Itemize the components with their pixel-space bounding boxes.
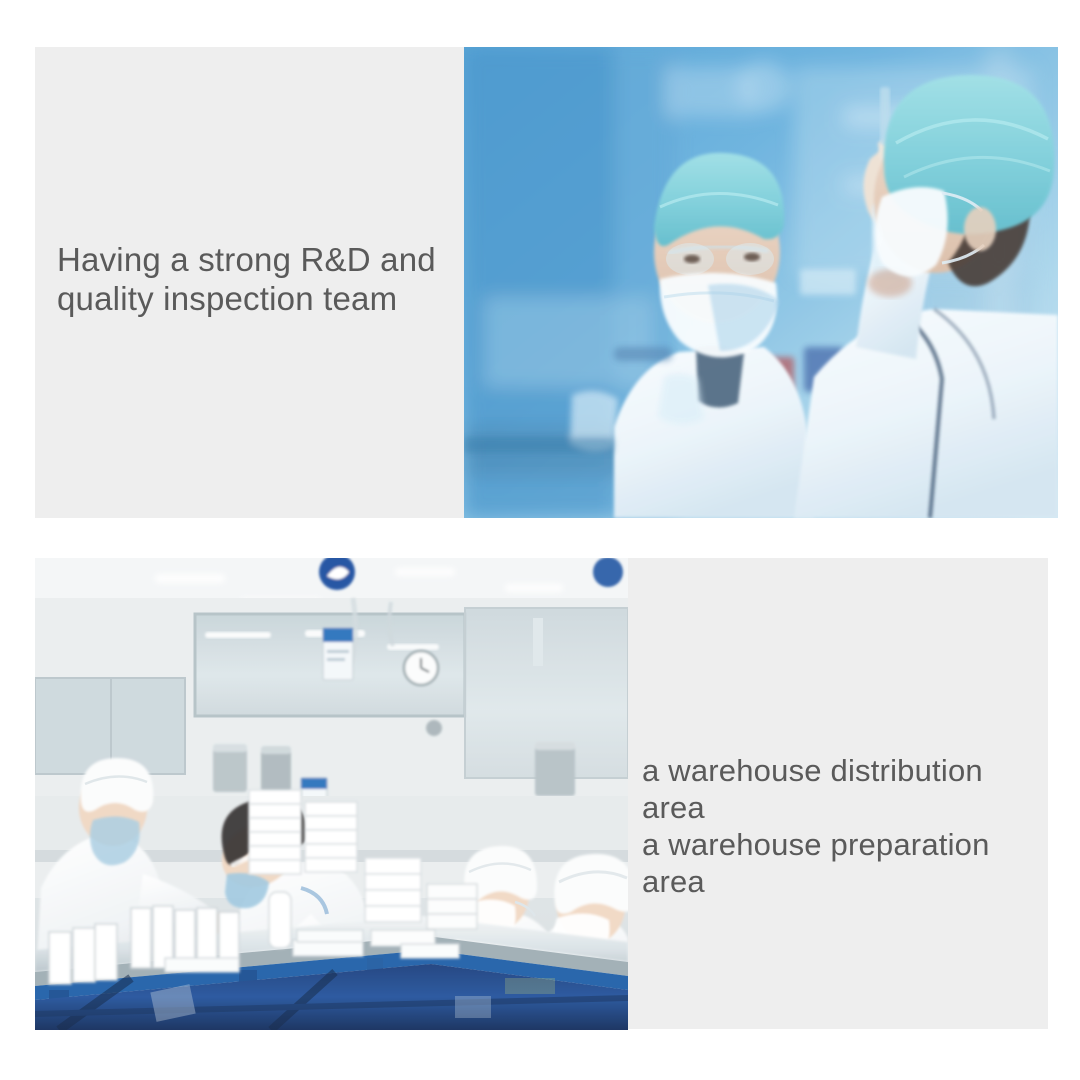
warehouse-packing-area-photo <box>35 558 628 1030</box>
laboratory-quality-inspection-photo <box>464 47 1058 518</box>
caption-rnd-quality: Having a strong R&D and quality inspecti… <box>57 240 457 318</box>
caption-warehouse-areas: a warehouse distribution area a warehous… <box>642 752 1042 900</box>
